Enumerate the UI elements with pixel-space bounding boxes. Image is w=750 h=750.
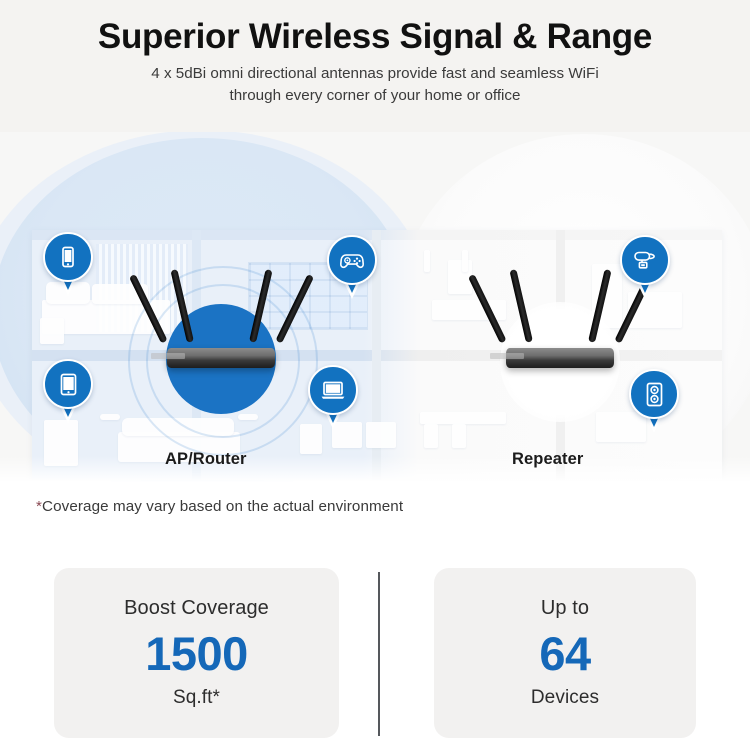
side-table-furniture <box>100 414 120 420</box>
label-ap-router: AP/Router <box>165 450 247 469</box>
nightstand-furniture <box>40 318 64 344</box>
disclaimer-text: Coverage may vary based on the actual en… <box>42 498 403 515</box>
label-repeater: Repeater <box>512 450 583 469</box>
stat-value: 64 <box>539 630 590 677</box>
badge-circle <box>620 235 670 285</box>
dining-table-furniture <box>420 412 506 424</box>
subtitle-line-1: 4 x 5dBi omni directional antennas provi… <box>151 63 598 85</box>
badge-circle <box>327 235 377 285</box>
armchair-furniture <box>300 424 322 454</box>
dining-chair-furniture <box>452 424 466 448</box>
badge-circle <box>43 359 93 409</box>
badge-circle <box>43 232 93 282</box>
pendant-lamp-decor <box>424 250 430 272</box>
stat-value: 1500 <box>145 630 248 677</box>
page-subtitle: 4 x 5dBi omni directional antennas provi… <box>151 63 598 106</box>
coverage-illustration: AP/Router Repeater <box>0 132 750 482</box>
router-logo <box>490 353 524 359</box>
stat-card-coverage: Boost Coverage 1500 Sq.ft* <box>54 568 339 738</box>
laptop-icon <box>319 377 347 403</box>
dining-chair-furniture <box>424 424 438 448</box>
router-body <box>167 348 275 368</box>
router-logo <box>151 353 185 359</box>
header-section: Superior Wireless Signal & Range 4 x 5dB… <box>0 0 750 132</box>
speaker-icon <box>642 381 667 408</box>
stats-divider <box>378 572 380 736</box>
stat-unit: Devices <box>531 687 599 709</box>
stat-unit: Sq.ft* <box>173 687 220 709</box>
stats-section: Boost Coverage 1500 Sq.ft* Up to 64 Devi… <box>0 560 750 750</box>
tablet-icon <box>56 372 81 397</box>
stat-title: Up to <box>541 597 589 620</box>
router-body <box>506 348 614 368</box>
disclaimer-note: *Coverage may vary based on the actual e… <box>36 498 403 515</box>
band-fade <box>0 456 750 482</box>
product-feature-page: Superior Wireless Signal & Range 4 x 5dB… <box>0 0 750 750</box>
gamepad-icon <box>338 246 366 274</box>
subtitle-line-2: through every corner of your home or off… <box>151 85 598 107</box>
smartphone-icon <box>56 245 80 269</box>
stat-card-devices: Up to 64 Devices <box>434 568 696 738</box>
pendant-lamp-decor <box>462 250 468 272</box>
sofa-furniture <box>366 422 396 448</box>
security-camera-icon <box>631 246 659 274</box>
badge-circle <box>308 365 358 415</box>
sofa-furniture <box>596 412 646 442</box>
stat-title: Boost Coverage <box>124 597 269 620</box>
page-title: Superior Wireless Signal & Range <box>98 18 652 55</box>
badge-circle <box>629 369 679 419</box>
